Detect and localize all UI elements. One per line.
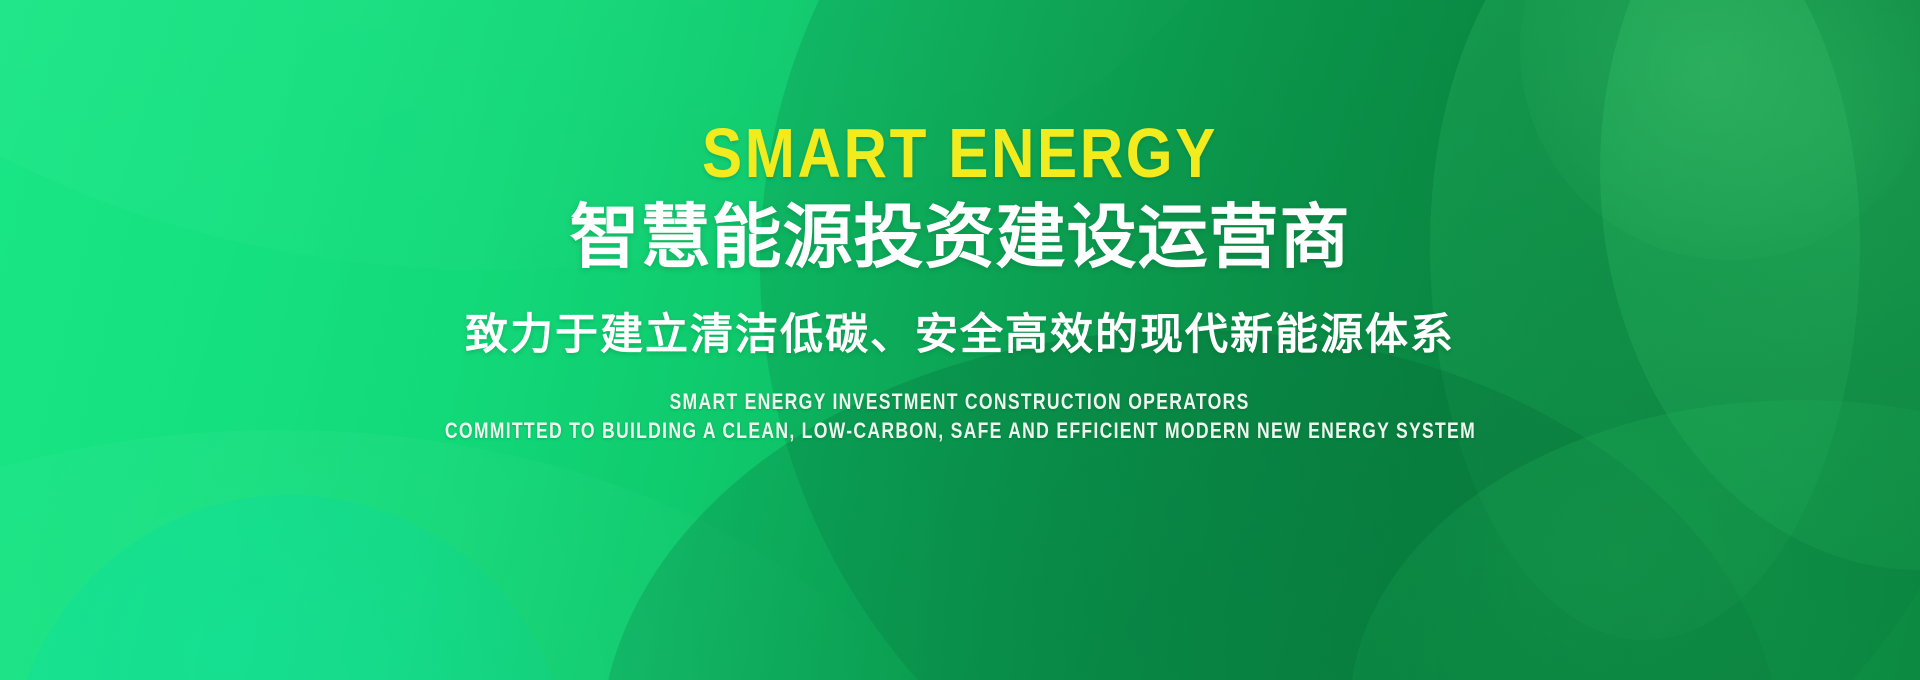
banner-title-chinese: 智慧能源投资建设运营商	[570, 198, 1351, 276]
banner-subtitle-english-line-2: COMMITTED TO BUILDING A CLEAN, LOW-CARBO…	[444, 417, 1475, 445]
banner-content: SMART ENERGY 智慧能源投资建设运营商 致力于建立清洁低碳、安全高效的…	[0, 0, 1920, 680]
banner-title-english: SMART ENERGY	[702, 118, 1218, 188]
banner-subtitle-english-line-1: SMART ENERGY INVESTMENT CONSTRUCTION OPE…	[670, 388, 1250, 416]
banner-subtitle-chinese: 致力于建立清洁低碳、安全高效的现代新能源体系	[465, 310, 1455, 362]
hero-banner: SMART ENERGY 智慧能源投资建设运营商 致力于建立清洁低碳、安全高效的…	[0, 0, 1920, 680]
